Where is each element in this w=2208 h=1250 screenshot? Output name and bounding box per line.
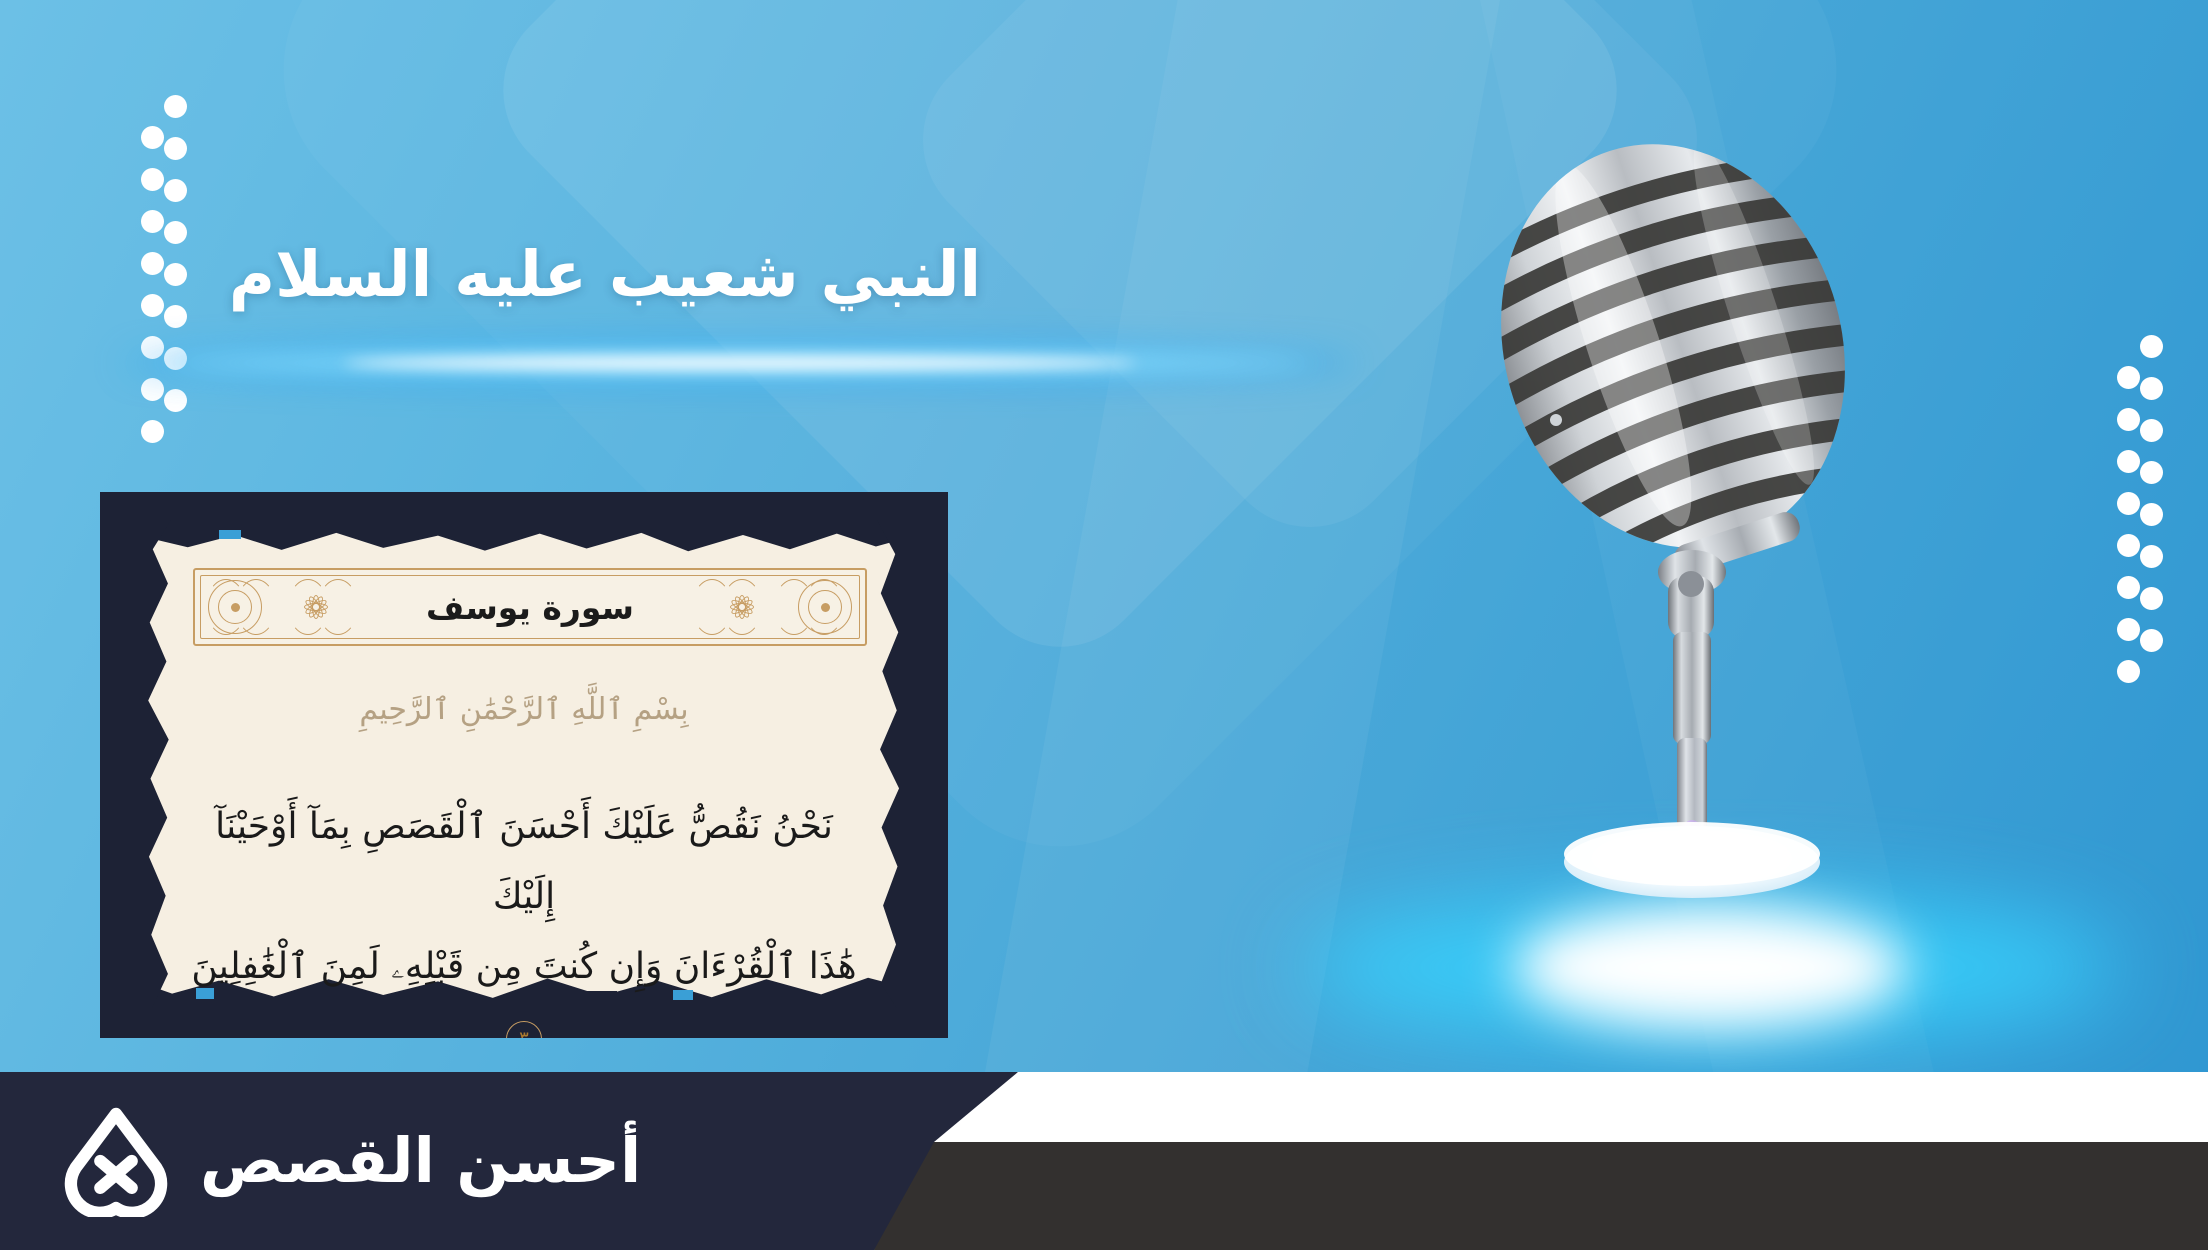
dot (141, 126, 164, 149)
flare-outer (120, 346, 1360, 380)
dot (2140, 629, 2163, 652)
brand-lockup: أحسن القصص (60, 1072, 641, 1250)
dot (2140, 461, 2163, 484)
dot (141, 420, 164, 443)
quran-paper: سورة يوسف بِسْمِ ٱللَّهِ ٱلرَّحْمَٰنِ ٱل… (133, 520, 915, 1008)
band-ornament-left (202, 577, 372, 637)
dot (164, 137, 187, 160)
brand-name: أحسن القصص (200, 1130, 641, 1192)
grunge-speck (649, 527, 683, 532)
footer-bar: أحسن القصص (0, 1072, 2208, 1250)
dot-column (2117, 366, 2140, 702)
flare-core (343, 357, 1137, 370)
poster-canvas: النبي شعيب عليه السلام (0, 0, 2208, 1250)
dot (2117, 576, 2140, 599)
ayah-number-badge: ٣ (506, 1021, 542, 1038)
quran-verse-panel: سورة يوسف بِسْمِ ٱللَّهِ ٱلرَّحْمَٰنِ ٱل… (100, 492, 948, 1038)
rosette-icon (798, 580, 852, 634)
dot (2117, 450, 2140, 473)
surah-header-band: سورة يوسف (193, 568, 867, 646)
grunge-speck-blue (219, 530, 241, 539)
dot (164, 389, 187, 412)
page-title: النبي شعيب عليه السلام (0, 236, 1210, 315)
retro-microphone-icon (1430, 140, 1990, 940)
ayah-line-with-number: هَٰذَا ٱلْقُرْءَانَ وَإِن كُنتَ مِن قَبْ… (179, 932, 869, 1038)
ayah-text: نَحْنُ نَقُصُّ عَلَيْكَ أَحْسَنَ ٱلْقَصَ… (179, 792, 869, 1038)
grunge-edge-right (877, 520, 915, 1008)
ayah-line: نَحْنُ نَقُصُّ عَلَيْكَ أَحْسَنَ ٱلْقَصَ… (179, 792, 869, 932)
dot (2117, 366, 2140, 389)
surah-name: سورة يوسف (426, 588, 634, 627)
dot (141, 168, 164, 191)
flare-mid (170, 353, 1311, 374)
dot (2140, 377, 2163, 400)
dot (2140, 545, 2163, 568)
dot (2117, 534, 2140, 557)
dot (2140, 335, 2163, 358)
flower-icon (716, 581, 768, 633)
teardrop-cross-logo-icon (60, 1105, 172, 1217)
dot (141, 378, 164, 401)
flower-icon (290, 581, 342, 633)
dot-column (2140, 335, 2163, 702)
dot (2117, 408, 2140, 431)
basmala-text: بِسْمِ ٱللَّهِ ٱلرَّحْمَٰنِ ٱلرَّحِيمِ (133, 692, 915, 727)
band-ornament-right (688, 577, 858, 637)
dot (2140, 503, 2163, 526)
grunge-edge-top (133, 520, 915, 554)
dot (164, 179, 187, 202)
dot (141, 210, 164, 233)
dot (2117, 660, 2140, 683)
grunge-speck (493, 533, 519, 538)
dot-pattern-right (2098, 335, 2163, 702)
grunge-edge-left (133, 520, 171, 1008)
dot (164, 347, 187, 370)
rosette-icon (208, 580, 262, 634)
dot (2140, 587, 2163, 610)
dot (2117, 492, 2140, 515)
dot (141, 336, 164, 359)
dot (2140, 419, 2163, 442)
light-wedge-one (980, 0, 1500, 1100)
dot (164, 95, 187, 118)
ayah-line: هَٰذَا ٱلْقُرْءَانَ وَإِن كُنتَ مِن قَبْ… (191, 946, 856, 987)
grunge-speck (258, 528, 298, 534)
dot (2117, 618, 2140, 641)
light-streak (120, 337, 1360, 389)
